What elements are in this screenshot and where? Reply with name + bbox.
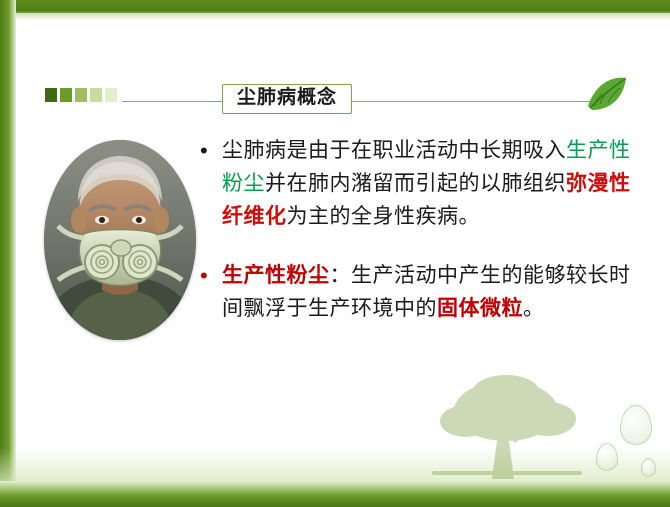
bullet-paragraph-2: • 生产性粉尘：生产活动中产生的能够较长时间飘浮于生产环境中的固体微粒。 [200, 259, 640, 325]
water-drop-icon [596, 443, 618, 471]
tree-silhouette-icon [422, 371, 592, 479]
swatch-2 [60, 88, 72, 102]
top-band-fade [0, 13, 670, 20]
title-divider [122, 101, 590, 102]
run-text-highlight-red: 固体微粒 [437, 297, 523, 320]
swatch-5 [105, 88, 117, 102]
page-title: 尘肺病概念 [237, 88, 337, 108]
water-drop-icon [620, 405, 652, 445]
portrait-photo [44, 140, 196, 340]
bullet-marker: • [200, 259, 222, 325]
slide-body: • 尘肺病是由于在职业活动中长期吸入生产性粉尘并在肺内潴留而引起的以肺组织弥漫性… [200, 134, 640, 351]
run-text: 。 [523, 297, 545, 320]
paragraph-text-2: 生产性粉尘：生产活动中产生的能够较长时间飘浮于生产环境中的固体微粒。 [222, 259, 640, 325]
paragraph-text-1: 尘肺病是由于在职业活动中长期吸入生产性粉尘并在肺内潴留而引起的以肺组织弥漫性纤维… [222, 134, 640, 233]
bottom-green-band [0, 481, 670, 507]
slide-canvas: 尘肺病概念 [0, 0, 670, 507]
water-drop-icon [641, 458, 656, 477]
left-green-band [0, 0, 16, 507]
swatch-3 [75, 88, 87, 102]
swatch-1 [45, 88, 57, 102]
run-text: 尘肺病是由于在职业活动中长期吸入 [222, 139, 566, 162]
run-text-highlight-red: 生产性粉尘 [222, 264, 330, 287]
bullet-marker: • [200, 134, 222, 233]
bullet-paragraph-1: • 尘肺病是由于在职业活动中长期吸入生产性粉尘并在肺内潴留而引起的以肺组织弥漫性… [200, 134, 640, 233]
swatch-4 [90, 88, 102, 102]
leaf-icon [584, 76, 628, 116]
run-text: 并在肺内潴留而引起的以肺组织 [265, 172, 566, 195]
page-title-box: 尘肺病概念 [222, 84, 352, 114]
run-text: 为主的全身性疾病。 [287, 205, 481, 228]
header-color-swatches [45, 88, 117, 102]
